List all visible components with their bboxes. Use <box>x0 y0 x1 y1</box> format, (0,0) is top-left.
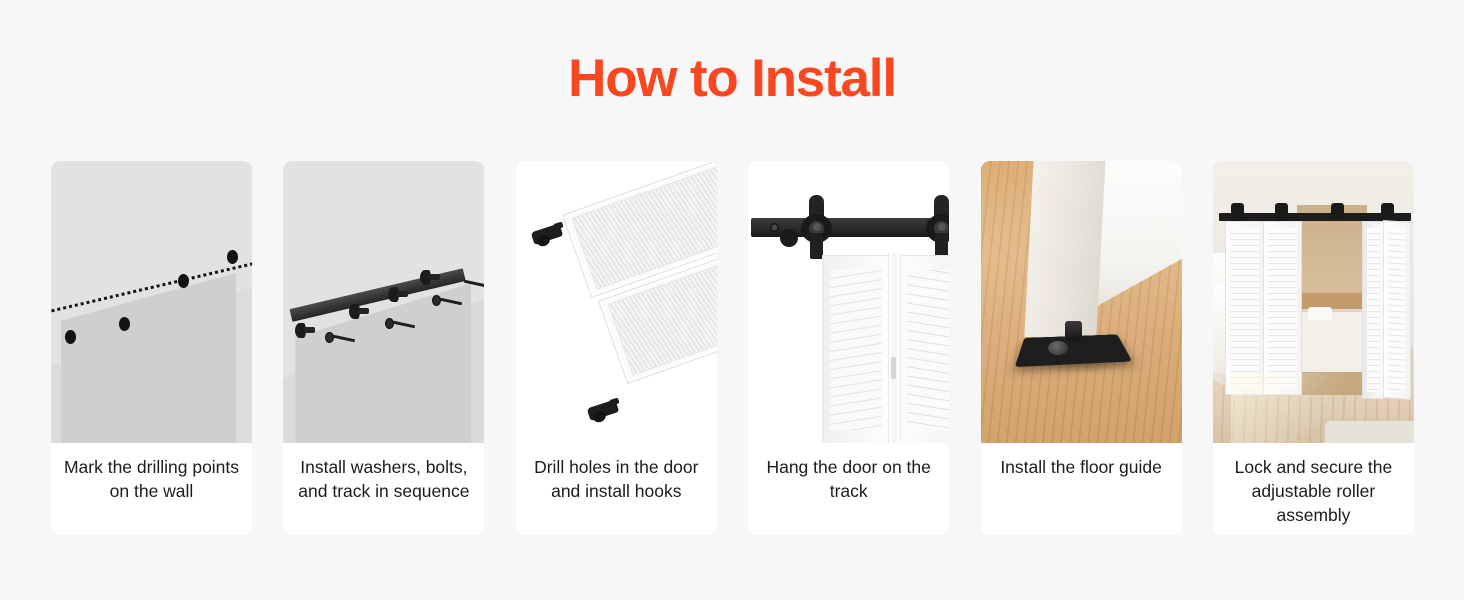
bolt-washer <box>420 270 439 285</box>
installed-bifold-barn-door-room-photo <box>1213 161 1414 443</box>
roller-hanger <box>1231 203 1244 221</box>
drill-point-marker <box>119 317 130 331</box>
hook-tip <box>553 221 563 229</box>
roller-hanger <box>1381 203 1394 221</box>
door-louvers <box>907 270 949 430</box>
door-panel <box>1263 221 1302 395</box>
step-caption-container: Install the floor guide <box>981 443 1182 535</box>
wall-track-bolts-illustration <box>283 161 484 443</box>
door-louvers <box>1388 227 1406 392</box>
door-louvers <box>830 270 882 430</box>
door-panel-folded <box>1383 220 1411 400</box>
page-title: How to Install <box>0 50 1464 108</box>
door-louvers <box>1268 228 1297 388</box>
bolt-washer <box>349 304 368 319</box>
step-card-5[interactable]: Install the floor guide <box>981 161 1182 535</box>
door-front-face <box>1024 161 1105 337</box>
step-caption: Drill holes in the door and install hook… <box>523 455 710 503</box>
step-caption: Mark the drilling points on the wall <box>58 455 245 503</box>
floor-guide-screw <box>1048 341 1068 355</box>
step-card-4[interactable]: Hang the door on the track <box>748 161 949 535</box>
roller-hanger <box>1331 203 1344 221</box>
door-louvers <box>1230 228 1259 388</box>
step-caption-container: Lock and secure the adjustable roller as… <box>1213 443 1414 535</box>
door-panel-left <box>822 255 892 443</box>
sunlight-patch <box>1231 373 1381 443</box>
roller-hook <box>585 394 624 425</box>
wall-front-plane <box>61 273 236 443</box>
step-caption: Hang the door on the track <box>755 455 942 503</box>
pillow <box>1308 307 1332 320</box>
roller-assembly <box>801 195 832 257</box>
step-caption-container: Hang the door on the track <box>748 443 949 535</box>
step-caption: Install the floor guide <box>1000 455 1162 479</box>
bolt-shaft <box>304 327 315 333</box>
steps-card-row: Mark the drilling points on the wall <box>51 161 1414 535</box>
floor-guide-post <box>1065 321 1082 341</box>
step-card-3[interactable]: Drill holes in the door and install hook… <box>516 161 717 535</box>
door-panel <box>1225 221 1264 395</box>
door-panels-hooks-illustration <box>516 161 717 443</box>
hook-tip <box>609 397 619 405</box>
bolt-washer <box>388 287 407 302</box>
step-caption: Install washers, bolts, and track in seq… <box>290 455 477 503</box>
step-caption: Lock and secure the adjustable roller as… <box>1220 455 1407 527</box>
door-panel-right <box>897 255 949 443</box>
door-louvers <box>1367 228 1379 392</box>
step-card-1[interactable]: Mark the drilling points on the wall <box>51 161 252 535</box>
step-card-2[interactable]: Install washers, bolts, and track in seq… <box>283 161 484 535</box>
door-latch <box>891 357 896 379</box>
step-card-6[interactable]: Lock and secure the adjustable roller as… <box>1213 161 1414 535</box>
roller-assembly <box>926 195 949 257</box>
bolt-shaft <box>429 274 440 280</box>
drill-point-marker <box>227 250 238 264</box>
floor-guide-photo <box>981 161 1182 443</box>
bolt-shaft <box>358 308 369 314</box>
door-on-track-illustration <box>748 161 949 443</box>
step-caption-container: Drill holes in the door and install hook… <box>516 443 717 535</box>
step-caption-container: Mark the drilling points on the wall <box>51 443 252 535</box>
drill-point-marker <box>178 274 189 288</box>
drill-point-marker <box>65 330 76 344</box>
step-caption-container: Install washers, bolts, and track in seq… <box>283 443 484 535</box>
roller-hook <box>529 218 568 249</box>
bolt-washer <box>295 323 314 338</box>
door-center-spine <box>888 253 901 443</box>
how-to-install-section: How to Install Mark the drilling points … <box>0 0 1464 600</box>
bolt-shaft <box>397 291 408 297</box>
track-roller-wheel <box>780 229 798 247</box>
wall-drill-marks-illustration <box>51 161 252 443</box>
roller-hanger <box>1275 203 1288 221</box>
